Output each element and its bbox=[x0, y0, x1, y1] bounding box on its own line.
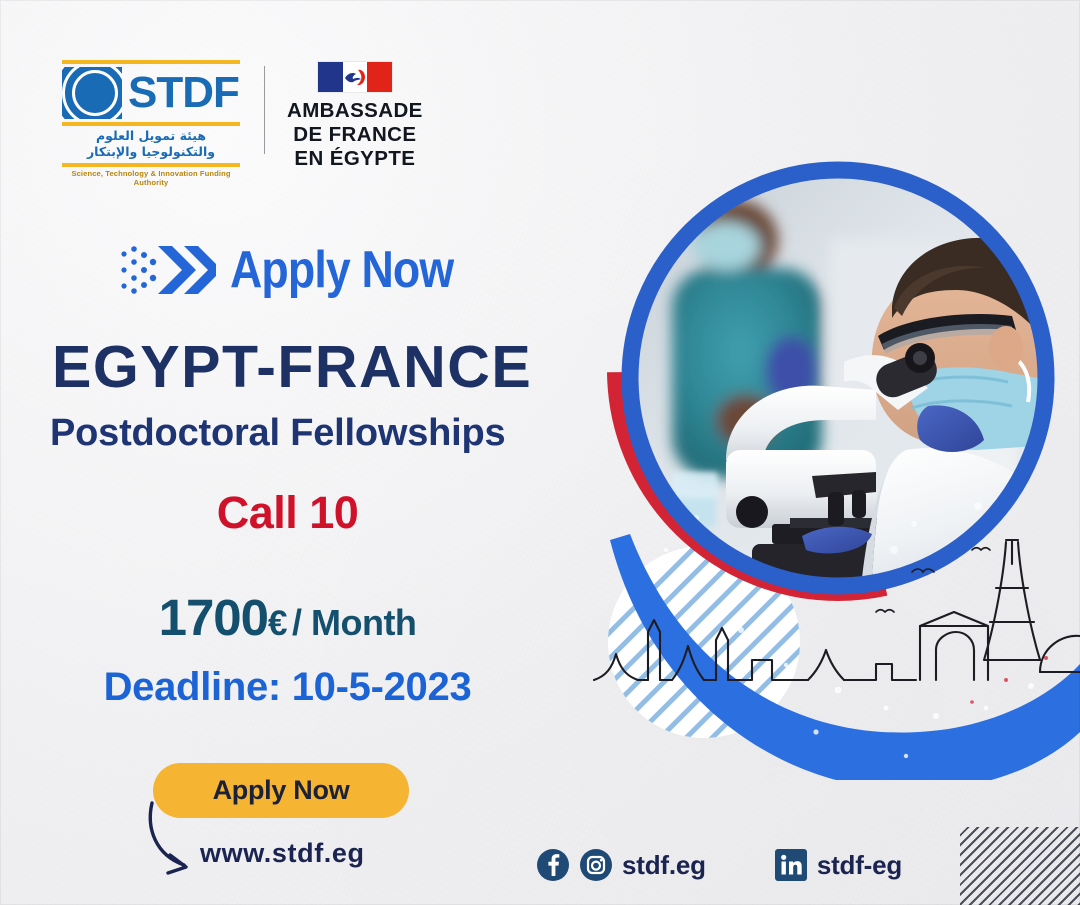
website-url[interactable]: www.stdf.eg bbox=[200, 838, 365, 869]
diagonal-hatch-corner bbox=[960, 827, 1080, 905]
stipend-period: / Month bbox=[292, 602, 416, 643]
deadline-label: Deadline: 10-5-2023 bbox=[0, 665, 575, 710]
stdf-concentric-arcs-mark-icon bbox=[62, 67, 122, 119]
linkedin-icon[interactable] bbox=[774, 848, 808, 882]
double-chevron-right-icon bbox=[120, 244, 216, 296]
poster-canvas: STDF هيئة تمويل العلوم والتكنولوجيا والإ… bbox=[0, 0, 1080, 905]
social-links: stdf.eg stdf-eg bbox=[536, 848, 902, 882]
stipend-currency: € bbox=[268, 604, 287, 643]
marianne-silhouette-icon bbox=[342, 66, 368, 88]
stdf-english-tagline: Science, Technology & Innovation Funding… bbox=[62, 167, 240, 187]
stdf-arabic-tagline: هيئة تمويل العلوم والتكنولوجيا والإبتكار bbox=[62, 126, 240, 160]
facebook-icon[interactable] bbox=[536, 848, 570, 882]
stdf-logo: STDF هيئة تمويل العلوم والتكنولوجيا والإ… bbox=[62, 60, 240, 187]
instagram-icon[interactable] bbox=[579, 848, 613, 882]
header-logos: STDF هيئة تمويل العلوم والتكنولوجيا والإ… bbox=[62, 60, 423, 187]
stipend-value: 1700 bbox=[159, 589, 268, 646]
facebook-instagram-handle[interactable]: stdf.eg bbox=[622, 850, 706, 881]
artwork-panel bbox=[576, 120, 1080, 780]
embassy-of-france-logo: AMBASSADE DE FRANCE EN ÉGYPTE bbox=[287, 60, 423, 170]
stdf-wordmark: STDF bbox=[128, 72, 239, 114]
stipend-amount: 1700€ / Month bbox=[0, 588, 575, 647]
linkedin-handle[interactable]: stdf-eg bbox=[817, 850, 902, 881]
apply-now-kicker: Apply Now bbox=[120, 240, 490, 300]
apply-now-kicker-label: Apply Now bbox=[230, 240, 453, 300]
embassy-line-2: DE FRANCE bbox=[287, 123, 423, 147]
circular-photo-artwork bbox=[576, 120, 1080, 780]
french-republic-flag-icon bbox=[318, 62, 392, 92]
page-subtitle: Postdoctoral Fellowships bbox=[50, 414, 610, 452]
call-number-label: Call 10 bbox=[0, 487, 575, 539]
logo-divider bbox=[264, 66, 265, 154]
social-group-linkedin: stdf-eg bbox=[774, 848, 902, 882]
embassy-line-3: EN ÉGYPTE bbox=[287, 147, 423, 171]
stdf-rule-top bbox=[62, 60, 240, 64]
microscope-photo bbox=[638, 178, 1038, 578]
page-title: EGYPT-FRANCE bbox=[52, 338, 592, 397]
social-group-facebook-instagram: stdf.eg bbox=[536, 848, 706, 882]
embassy-line-1: AMBASSADE bbox=[287, 99, 423, 123]
